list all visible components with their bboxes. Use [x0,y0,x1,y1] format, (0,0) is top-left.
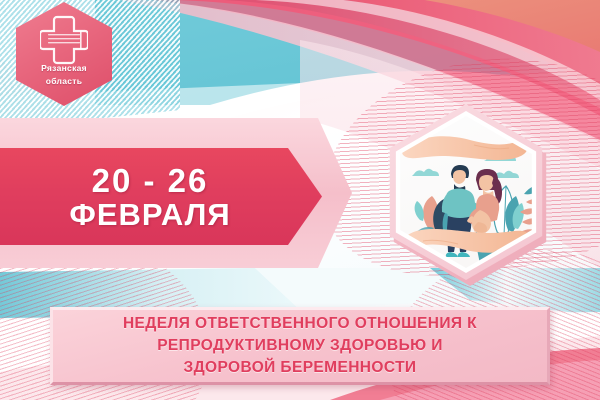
date-banner-text: 20 - 26 ФЕВРАЛЯ [0,148,300,245]
bottom-banner-text: НЕДЕЛЯ ОТВЕТСТВЕННОГО ОТНОШЕНИЯ К РЕПРОД… [117,313,483,379]
logo-region-line1: Рязанская [16,62,112,75]
bottom-banner-line2: РЕПРОДУКТИВНОМУ ЗДОРОВЬЮ И [123,335,477,357]
illustration-hexagon [378,104,560,286]
poster-canvas: Рязанская область 20 - 26 ФЕВРАЛЯ [0,0,600,400]
month-label: ФЕВРАЛЯ [69,199,230,230]
medical-cross-icon [40,14,88,66]
logo-region-caption: Рязанская область [16,62,112,88]
date-range-label: 20 - 26 [92,164,209,197]
logo-region-line2: область [16,75,112,88]
bottom-banner: НЕДЕЛЯ ОТВЕТСТВЕННОГО ОТНОШЕНИЯ К РЕПРОД… [50,307,550,385]
bottom-banner-line3: ЗДОРОВОЙ БЕРЕМЕННОСТИ [123,357,477,379]
bottom-banner-line1: НЕДЕЛЯ ОТВЕТСТВЕННОГО ОТНОШЕНИЯ К [123,313,477,335]
